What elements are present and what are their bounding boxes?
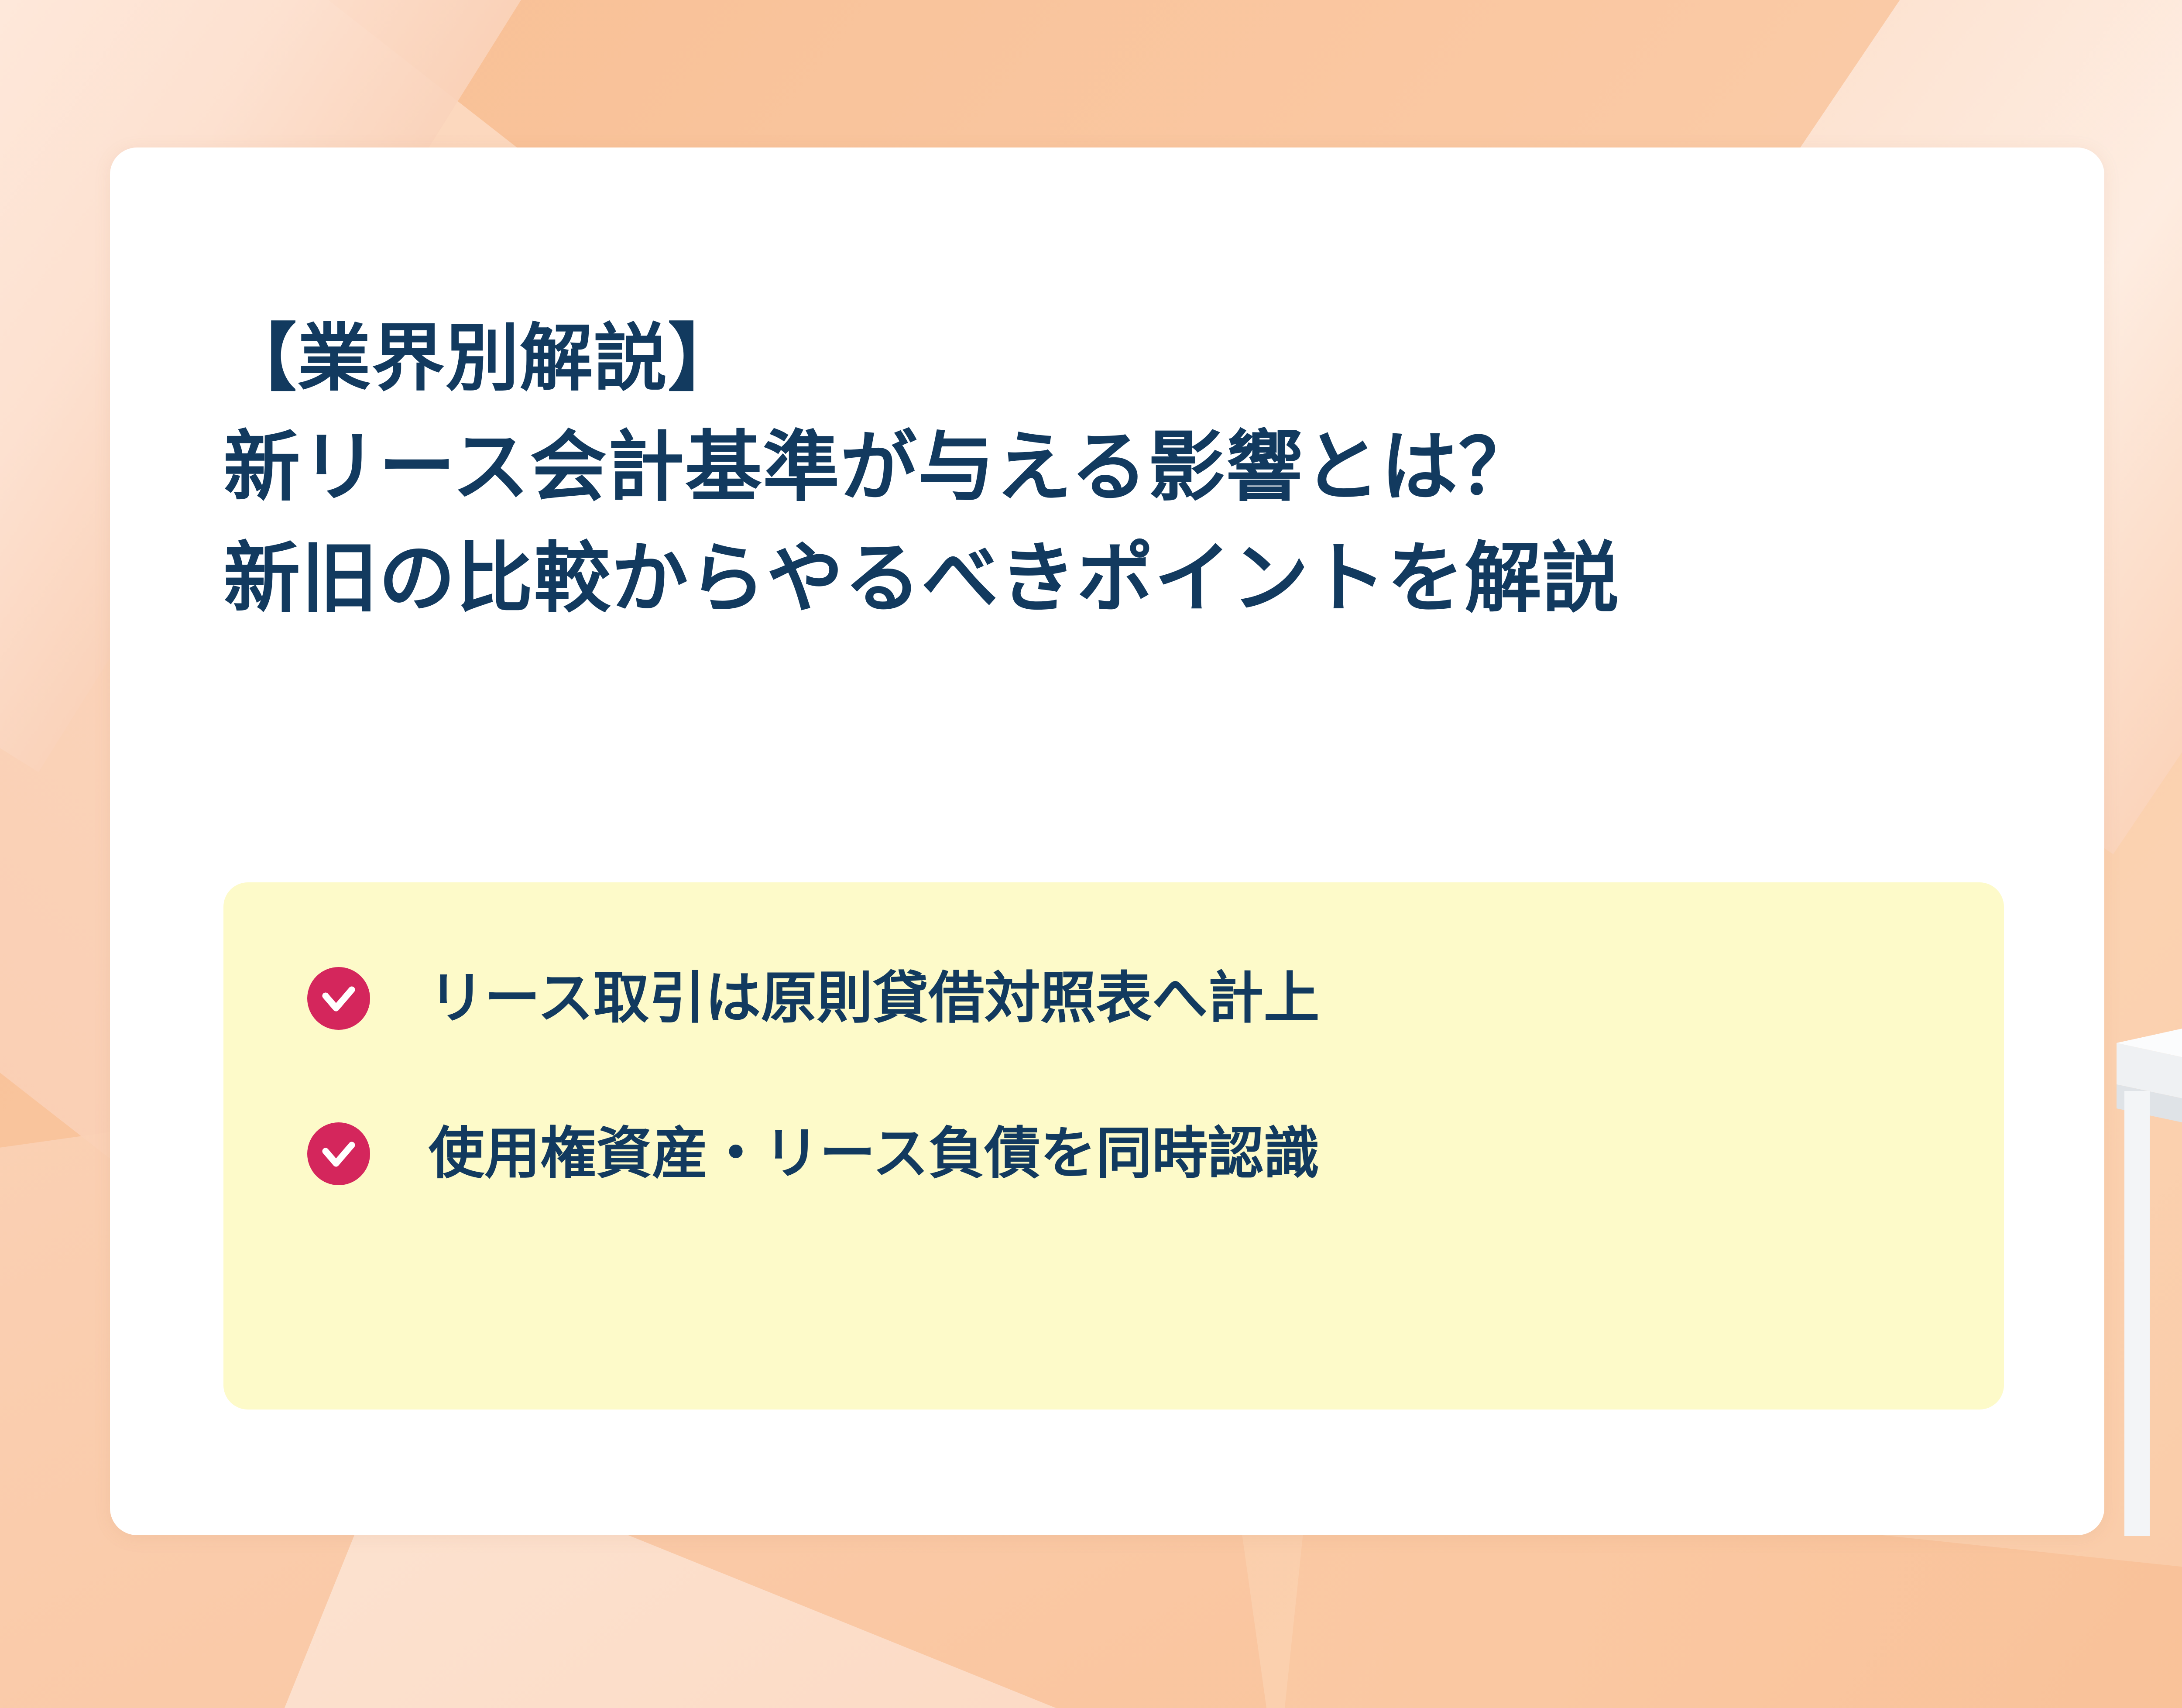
person-at-desk-cloud-accounting-illustration — [2051, 105, 2182, 1708]
thumbnail-canvas: 【業界別解説】 新リース会計基準が与える影響とは？ 新旧の比較からやるべきポイン… — [0, 0, 2182, 1708]
check-circle-icon — [307, 1122, 370, 1185]
check-circle-icon — [307, 967, 370, 1030]
key-point-label: リース取引は原則貸借対照表へ計上 — [429, 964, 1320, 1033]
title-line-1: 【業界別解説】 — [223, 305, 1969, 412]
key-points-box: リース取引は原則貸借対照表へ計上 使用権資産・リース負債を同時認識 — [223, 882, 2004, 1410]
list-item: リース取引は原則貸借対照表へ計上 — [223, 964, 2004, 1033]
title-line-2: 新リース会計基準が与える影響とは？ — [223, 412, 1969, 523]
page-title: 【業界別解説】 新リース会計基準が与える影響とは？ 新旧の比較からやるべきポイン… — [223, 305, 1969, 634]
key-point-label: 使用権資産・リース負債を同時認識 — [429, 1119, 1320, 1189]
list-item: 使用権資産・リース負債を同時認識 — [223, 1119, 2004, 1189]
desk-icon — [2117, 973, 2182, 1658]
title-line-3: 新旧の比較からやるべきポイントを解説 — [223, 523, 1969, 634]
